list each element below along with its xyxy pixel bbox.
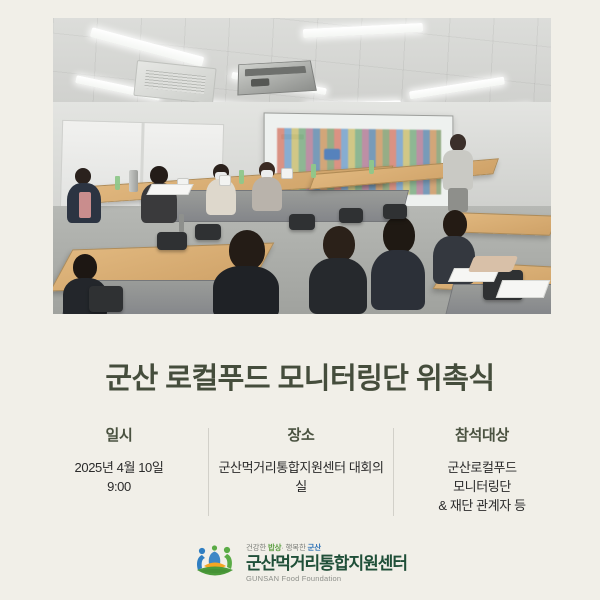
- water-bottle: [115, 176, 120, 190]
- attendee-head: [383, 216, 415, 254]
- attendee-head: [150, 166, 168, 184]
- info-line: 모니터링단: [398, 478, 566, 497]
- paper-cup: [219, 175, 231, 186]
- attendee-torso: [309, 258, 367, 314]
- attendee: [251, 162, 283, 218]
- logo-tagline-part: · 행복한: [281, 543, 307, 552]
- tumbler: [129, 170, 138, 192]
- foundation-logo-icon: [193, 544, 237, 582]
- logo-organization-name: 군산먹거리통합지원센터: [246, 555, 407, 572]
- meeting-room-photo: [53, 18, 551, 314]
- attendee-head: [75, 168, 91, 184]
- water-bottle: [239, 170, 244, 184]
- attendee: [141, 166, 177, 228]
- logo-text-block: 건강한 밥상· 행복한 군산 군산먹거리통합지원센터 GUNSAN Food F…: [246, 544, 407, 582]
- organization-logo: 건강한 밥상· 행복한 군산 군산먹거리통합지원센터 GUNSAN Food F…: [0, 544, 600, 582]
- chair: [289, 214, 315, 230]
- attendee-head: [323, 226, 355, 262]
- info-column-attendees: 참석대상 군산로컬푸드 모니터링단 & 재단 관계자 등: [394, 424, 570, 516]
- attendee: [67, 168, 101, 230]
- presenter: [441, 134, 475, 210]
- info-body-attendees: 군산로컬푸드 모니터링단 & 재단 관계자 등: [398, 459, 566, 516]
- page-title: 군산 로컬푸드 모니터링단 위촉식: [0, 355, 600, 397]
- info-column-date: 일시 2025년 4월 10일 9:00: [30, 424, 208, 497]
- info-head-date: 일시: [34, 424, 204, 445]
- attendee: [213, 230, 279, 314]
- logo-tagline-part: 군산: [308, 543, 321, 552]
- presenter-legs: [448, 188, 468, 212]
- event-poster: 군산 로컬푸드 모니터링단 위촉식 일시 2025년 4월 10일 9:00 장…: [0, 0, 600, 600]
- attendee-head: [229, 230, 265, 270]
- water-bottle: [369, 160, 374, 174]
- info-head-attendees: 참석대상: [398, 424, 566, 445]
- chair: [195, 224, 221, 240]
- water-bottle: [311, 164, 316, 178]
- info-line: 군산로컬푸드: [398, 459, 566, 478]
- chair: [383, 204, 407, 219]
- info-column-place: 장소 군산먹거리통합지원센터 대회의실: [209, 424, 393, 497]
- presenter-torso: [443, 150, 473, 190]
- info-line: 2025년 4월 10일: [34, 459, 204, 478]
- table-leg: [179, 214, 184, 232]
- attendee-torso: [371, 250, 425, 310]
- info-head-place: 장소: [213, 424, 389, 445]
- ceiling-projector: [237, 60, 316, 95]
- logo-organization-name-en: GUNSAN Food Foundation: [246, 575, 407, 583]
- chair: [157, 232, 187, 250]
- attendee: [309, 226, 367, 314]
- logo-tagline-part: 건강한: [246, 543, 268, 552]
- chair: [89, 286, 123, 312]
- chair: [339, 208, 363, 223]
- attendee-torso: [213, 266, 279, 314]
- attendee-head: [73, 254, 97, 280]
- logo-tagline: 건강한 밥상· 행복한 군산: [246, 544, 407, 552]
- presenter-head: [450, 134, 466, 151]
- attendee-torso: [252, 177, 282, 211]
- event-info: 일시 2025년 4월 10일 9:00 장소 군산먹거리통합지원센터 대회의실…: [30, 424, 570, 516]
- attendee-shirt: [79, 192, 91, 218]
- document: [146, 184, 193, 195]
- paper-cup: [281, 168, 293, 179]
- snack-tray: [468, 256, 518, 272]
- attendee: [371, 216, 425, 312]
- info-line: & 재단 관계자 등: [398, 497, 566, 516]
- info-body-date: 2025년 4월 10일 9:00: [34, 459, 204, 497]
- logo-tagline-part: 밥상: [268, 543, 281, 552]
- info-body-place: 군산먹거리통합지원센터 대회의실: [213, 459, 389, 497]
- document: [496, 280, 551, 298]
- photo-scene: [53, 18, 551, 314]
- attendee: [205, 164, 237, 222]
- info-line: 군산먹거리통합지원센터 대회의실: [213, 459, 389, 497]
- attendee-head: [443, 210, 467, 238]
- info-line: 9:00: [34, 478, 204, 497]
